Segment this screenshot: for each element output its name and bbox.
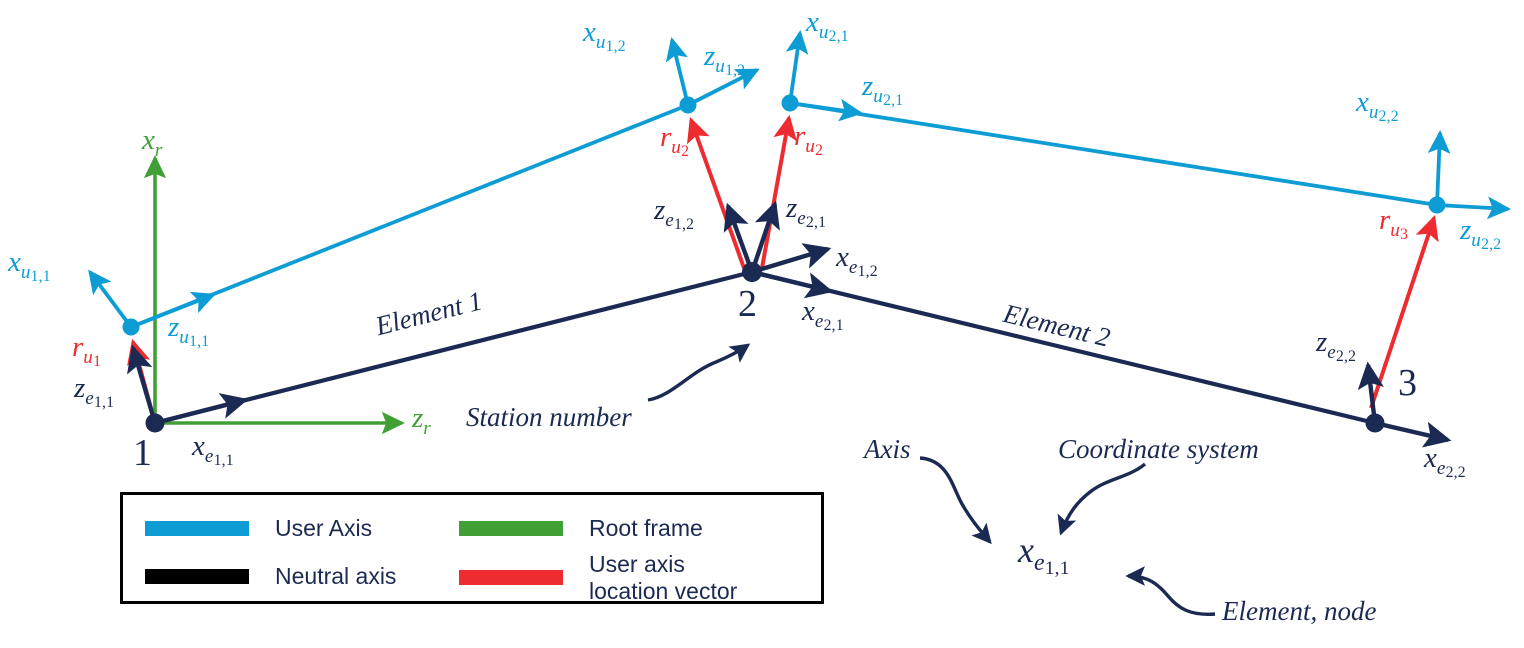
legend-item-root-frame: Root frame — [459, 515, 703, 542]
label-root-frame-z: zr — [412, 404, 431, 433]
user-node-1-1-dot — [123, 319, 140, 336]
annotation-element-node: Element, node — [1222, 598, 1376, 625]
legend-label-root-frame: Root frame — [589, 515, 703, 542]
axis-arrow-x-u-2-1 — [790, 33, 800, 103]
label-z-e-2-1: ze2,1 — [786, 194, 826, 223]
element-frame-node-1 — [133, 348, 245, 433]
label-x-u-2-1: xu2,1 — [806, 8, 849, 37]
label-x-e-2-2: xe2,2 — [1424, 444, 1466, 473]
legend-item-neutral-axis: Neutral axis — [145, 563, 396, 590]
label-z-u-1-2: zu1,2 — [704, 42, 745, 71]
axis-arrow-z-u-2-2 — [1437, 205, 1508, 209]
axis-arrow-x-e-2-1 — [752, 272, 830, 291]
element-2-neutral-axis — [752, 272, 1375, 423]
legend-item-user-axis: User Axis — [145, 515, 372, 542]
callout-axis — [920, 458, 990, 542]
legend-label-user-axis: User Axis — [275, 515, 372, 542]
label-x-u-1-2: xu1,2 — [583, 18, 626, 47]
legend-swatch-location-vector — [459, 570, 563, 585]
axis-arrow-x-e-2-2 — [1375, 423, 1448, 440]
legend-swatch-neutral-axis — [145, 569, 249, 584]
user-axis-element-1 — [131, 105, 688, 327]
annotation-axis: Axis — [864, 436, 911, 463]
label-r-u-2-left: ru2 — [660, 123, 689, 152]
axis-arrow-x-u-1-1 — [90, 272, 131, 327]
legend-label-location-vector-line2: location vector — [589, 578, 737, 605]
station-number-3: 3 — [1398, 364, 1417, 402]
label-z-e-1-2: ze1,2 — [654, 196, 694, 225]
callout-station-number — [648, 345, 748, 400]
label-z-u-1-1: zu1,1 — [168, 313, 209, 342]
label-z-e-2-2: ze2,2 — [1316, 328, 1356, 357]
axis-arrow-x-e-1-1 — [155, 400, 245, 423]
legend-item-location-vector: User axis location vector — [459, 551, 737, 604]
root-frame-axes — [155, 158, 402, 423]
legend-box: User Axis Neutral axis Root frame User a… — [120, 492, 824, 604]
location-vector-r-u-2-right — [762, 118, 789, 268]
label-x-u-1-1: xu1,1 — [8, 248, 51, 277]
axis-arrow-z-e-1-1 — [133, 348, 155, 423]
callout-coordinate-system — [1061, 464, 1145, 533]
label-root-frame-x: xr — [142, 126, 163, 155]
axis-arrow-x-u-2-2 — [1437, 133, 1440, 205]
station-number-1: 1 — [133, 434, 152, 472]
location-vector-r-u-2-left — [691, 120, 744, 268]
legend-label-location-vector: User axis location vector — [589, 551, 737, 604]
user-node-2-2-dot — [1429, 197, 1446, 214]
label-x-u-2-2: xu2,2 — [1356, 88, 1399, 117]
station-number-2: 2 — [738, 285, 757, 323]
user-node-1-2-dot — [680, 97, 697, 114]
label-z-u-2-2: zu2,2 — [1460, 216, 1501, 245]
legend-label-location-vector-line1: User axis — [589, 551, 737, 578]
neutral-axis-beam — [155, 272, 1375, 423]
station-node-2-dot — [742, 262, 762, 282]
user-frame-u-2-1 — [782, 33, 861, 113]
label-x-e-2-1: xe2,1 — [802, 297, 844, 326]
annotation-coordinate-system: Coordinate system — [1058, 436, 1259, 463]
label-r-u-2-right: ru2 — [794, 122, 823, 151]
annotation-sample-symbol: xe1,1 — [1018, 532, 1070, 568]
user-node-2-1-dot — [782, 95, 799, 112]
diagram-canvas: xr zr 1 2 3 Element 1 Element 2 ze1,1 xe… — [0, 0, 1524, 648]
annotation-station-number: Station number — [466, 404, 632, 431]
user-axis-element-2 — [790, 103, 1437, 205]
label-x-e-1-2: xe1,2 — [836, 243, 878, 272]
legend-label-neutral-axis: Neutral axis — [275, 563, 396, 590]
label-x-e-1-1: xe1,1 — [192, 432, 234, 461]
legend-swatch-user-axis — [145, 521, 249, 536]
callout-element-node — [1128, 576, 1215, 614]
label-r-u-3: ru3 — [1379, 206, 1408, 235]
axis-arrow-x-u-1-2 — [672, 40, 688, 105]
station-node-1-dot — [146, 414, 165, 433]
user-frame-u-2-2 — [1429, 133, 1509, 214]
label-z-u-2-1: zu2,1 — [862, 72, 903, 101]
label-r-u-1: ru1 — [72, 333, 101, 362]
legend-swatch-root-frame — [459, 521, 563, 536]
label-z-e-1-1: ze1,1 — [74, 374, 114, 403]
axis-arrow-z-u-2-1 — [790, 103, 860, 113]
station-node-3-dot — [1366, 414, 1385, 433]
